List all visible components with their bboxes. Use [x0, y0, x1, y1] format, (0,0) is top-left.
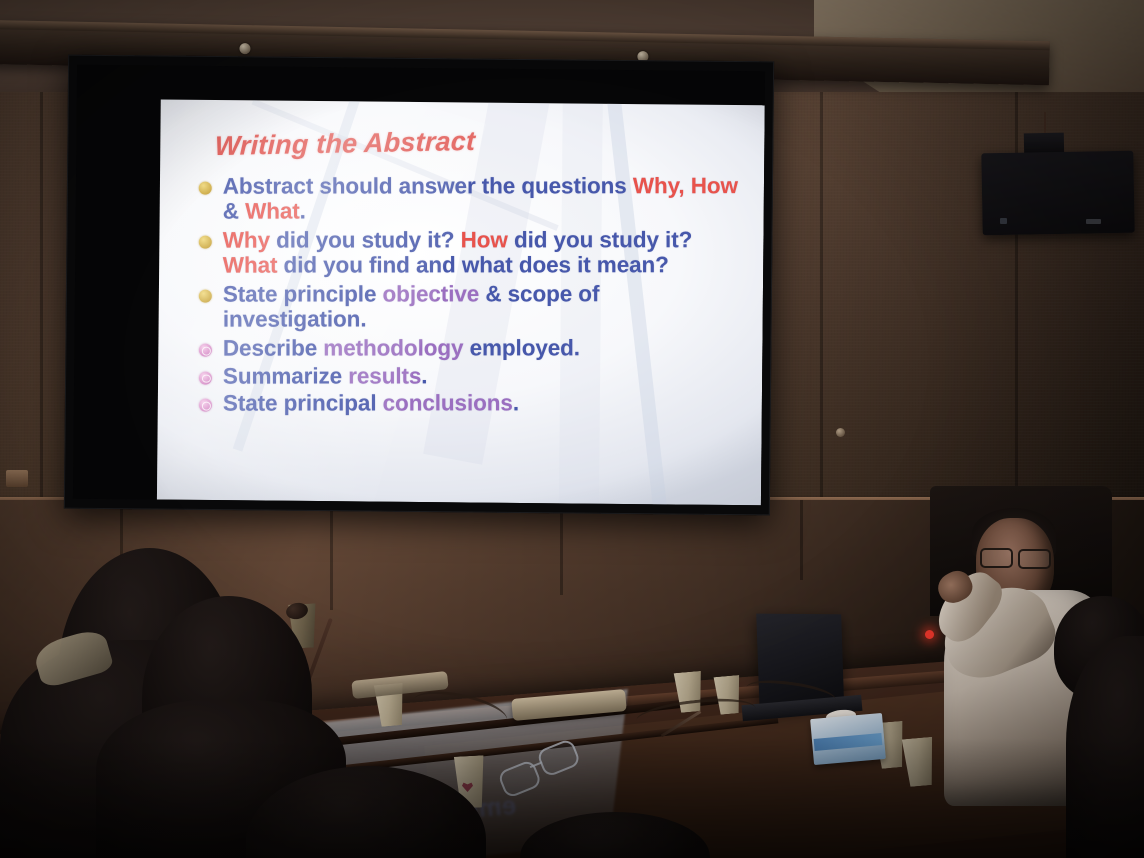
bullet-text-segment: methodology — [323, 335, 463, 360]
slide-bullet: State principle objective & scope of inv… — [197, 282, 745, 332]
presenter-lens-right — [1018, 549, 1051, 569]
monitor-brand-logo — [1086, 219, 1101, 224]
bullet-text-segment: did you study it? — [270, 227, 461, 252]
bullet-text-segment: Summarize — [223, 363, 348, 388]
slide-bullet: Abstract should answer the questions Why… — [197, 174, 745, 224]
slide-bullet: Why did you study it? How did you study … — [197, 228, 745, 278]
bullet-text-segment: objective — [383, 281, 480, 306]
panel-joint — [330, 500, 333, 610]
valance-screw — [239, 43, 250, 54]
bullet-text-segment: conclusions — [383, 390, 513, 415]
projection-screen-frame: Writing the Abstract Abstract should ans… — [64, 55, 774, 516]
slide-bullet: Describe methodology employed. — [197, 336, 745, 361]
pink-ring-bullet-icon — [199, 371, 212, 384]
bullet-text-segment: employed. — [463, 335, 580, 360]
lecture-room-photo: Writing the Abstract Abstract should ans… — [0, 0, 1144, 858]
gold-dot-bullet-icon — [199, 290, 212, 303]
screen-letterbox-mask: Writing the Abstract Abstract should ans… — [73, 65, 765, 506]
bullet-text-segment: What — [223, 252, 278, 277]
projected-slide: Writing the Abstract Abstract should ans… — [157, 100, 765, 506]
bullet-text-segment: What — [245, 198, 300, 223]
bullet-text-segment: Why, How — [633, 173, 738, 198]
wall-outlet[interactable] — [6, 470, 28, 487]
monitor-power-led-icon — [1000, 218, 1007, 224]
bullet-text-segment: State principal — [223, 391, 383, 416]
bullet-text-segment: Describe — [223, 336, 323, 361]
slide-bullet: State principal conclusions. — [197, 391, 745, 416]
bullet-text-segment: & — [223, 198, 245, 223]
gold-dot-bullet-icon — [199, 236, 212, 249]
gold-dot-bullet-icon — [199, 182, 212, 195]
presenter-glasses-icon — [980, 548, 1054, 566]
wall-seam — [820, 92, 823, 522]
wall-fixing-screw — [836, 428, 845, 437]
bullet-text-segment: How — [461, 227, 508, 252]
panel-joint — [800, 500, 803, 580]
wall-seam — [40, 92, 43, 522]
slide-bullet: Summarize results. — [197, 364, 745, 389]
presenter-lens-left — [980, 548, 1013, 568]
slide-title: Writing the Abstract — [214, 126, 475, 162]
pink-ring-bullet-icon — [199, 344, 212, 357]
slide-content: Writing the Abstract Abstract should ans… — [159, 102, 763, 503]
bullet-text-segment: Why — [223, 228, 270, 253]
bullet-text-segment: did you find and what does it mean? — [277, 252, 668, 277]
bullet-text-segment: results — [348, 363, 421, 388]
bullet-text-segment: . — [300, 198, 306, 223]
bullet-text-segment: . — [513, 390, 519, 415]
bullet-text-segment: . — [421, 363, 427, 388]
pink-ring-bullet-icon — [199, 399, 212, 412]
bullet-text-segment: did you study it? — [508, 227, 692, 252]
bullet-text-segment: State principle — [223, 282, 383, 307]
slide-bullet-list: Abstract should answer the questions Why… — [197, 174, 745, 419]
bullet-text-segment: Abstract should answer the questions — [223, 173, 633, 198]
panel-joint — [560, 500, 563, 595]
